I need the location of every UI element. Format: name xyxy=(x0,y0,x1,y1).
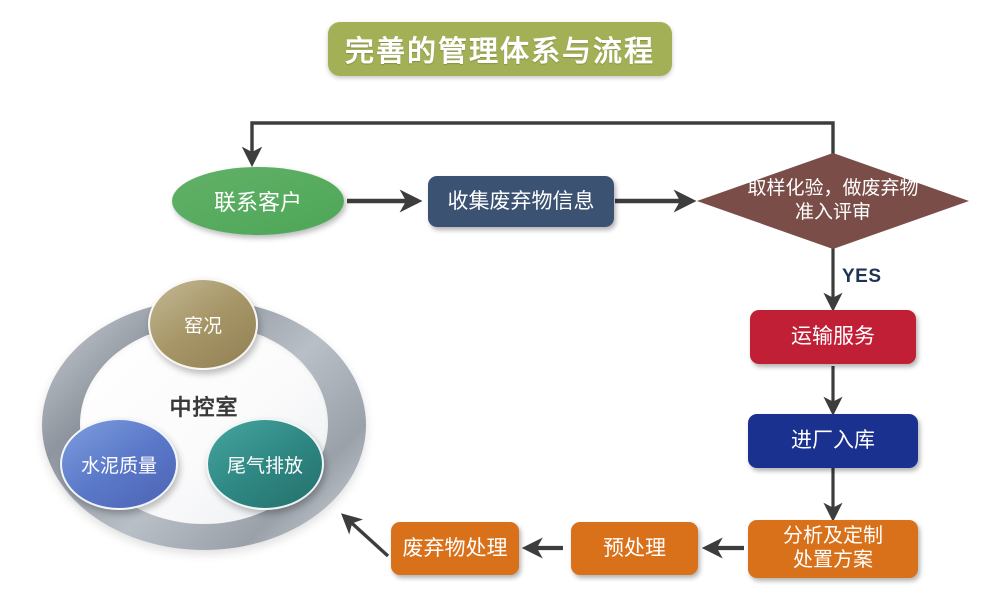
page-title-banner: 完善的管理体系与流程 xyxy=(328,22,672,76)
flow-node-collect-waste-info[interactable]: 收集废弃物信息 xyxy=(428,176,614,227)
flow-node-label: 预处理 xyxy=(603,537,666,561)
flow-node-label: 收集废弃物信息 xyxy=(448,190,595,214)
flow-node-label: 进厂入库 xyxy=(791,429,875,453)
flow-node-label: 运输服务 xyxy=(791,325,875,349)
ring-bubble-exhaust-emission[interactable]: 尾气排放 xyxy=(206,418,324,510)
flow-node-label: 分析及定制 处置方案 xyxy=(783,525,883,572)
flow-node-waste-disposal[interactable]: 废弃物处理 xyxy=(391,522,519,575)
ring-bubble-cement-quality[interactable]: 水泥质量 xyxy=(60,418,178,510)
flow-node-enter-plant[interactable]: 进厂入库 xyxy=(748,414,918,468)
flow-node-pre-treatment[interactable]: 预处理 xyxy=(571,522,698,575)
flow-node-label: 联系客户 xyxy=(214,185,302,217)
edge-label-yes: YES xyxy=(842,266,882,288)
page-title: 完善的管理体系与流程 xyxy=(345,28,655,70)
ring-bubble-kiln-condition[interactable]: 窑况 xyxy=(148,278,258,370)
flow-node-label: 取样化验，做废弃物 准入评审 xyxy=(697,153,969,249)
flow-node-contact-customer[interactable]: 联系客户 xyxy=(172,167,344,235)
flow-node-label: 废弃物处理 xyxy=(403,537,508,561)
flow-node-transport-service[interactable]: 运输服务 xyxy=(750,310,916,364)
flow-node-analysis-plan[interactable]: 分析及定制 处置方案 xyxy=(748,520,918,578)
control-room-diagram: 中控室 窑况 水泥质量 尾气排放 xyxy=(36,278,372,578)
flow-node-sampling-review[interactable]: 取样化验，做废弃物 准入评审 xyxy=(697,153,969,249)
control-room-label: 中控室 xyxy=(36,390,372,422)
ring-bubble-label: 水泥质量 xyxy=(81,451,157,478)
ring-bubble-label: 尾气排放 xyxy=(227,451,303,478)
ring-bubble-label: 窑况 xyxy=(184,311,222,338)
diagram-canvas: 完善的管理体系与流程 联系客户 xyxy=(0,0,1000,600)
